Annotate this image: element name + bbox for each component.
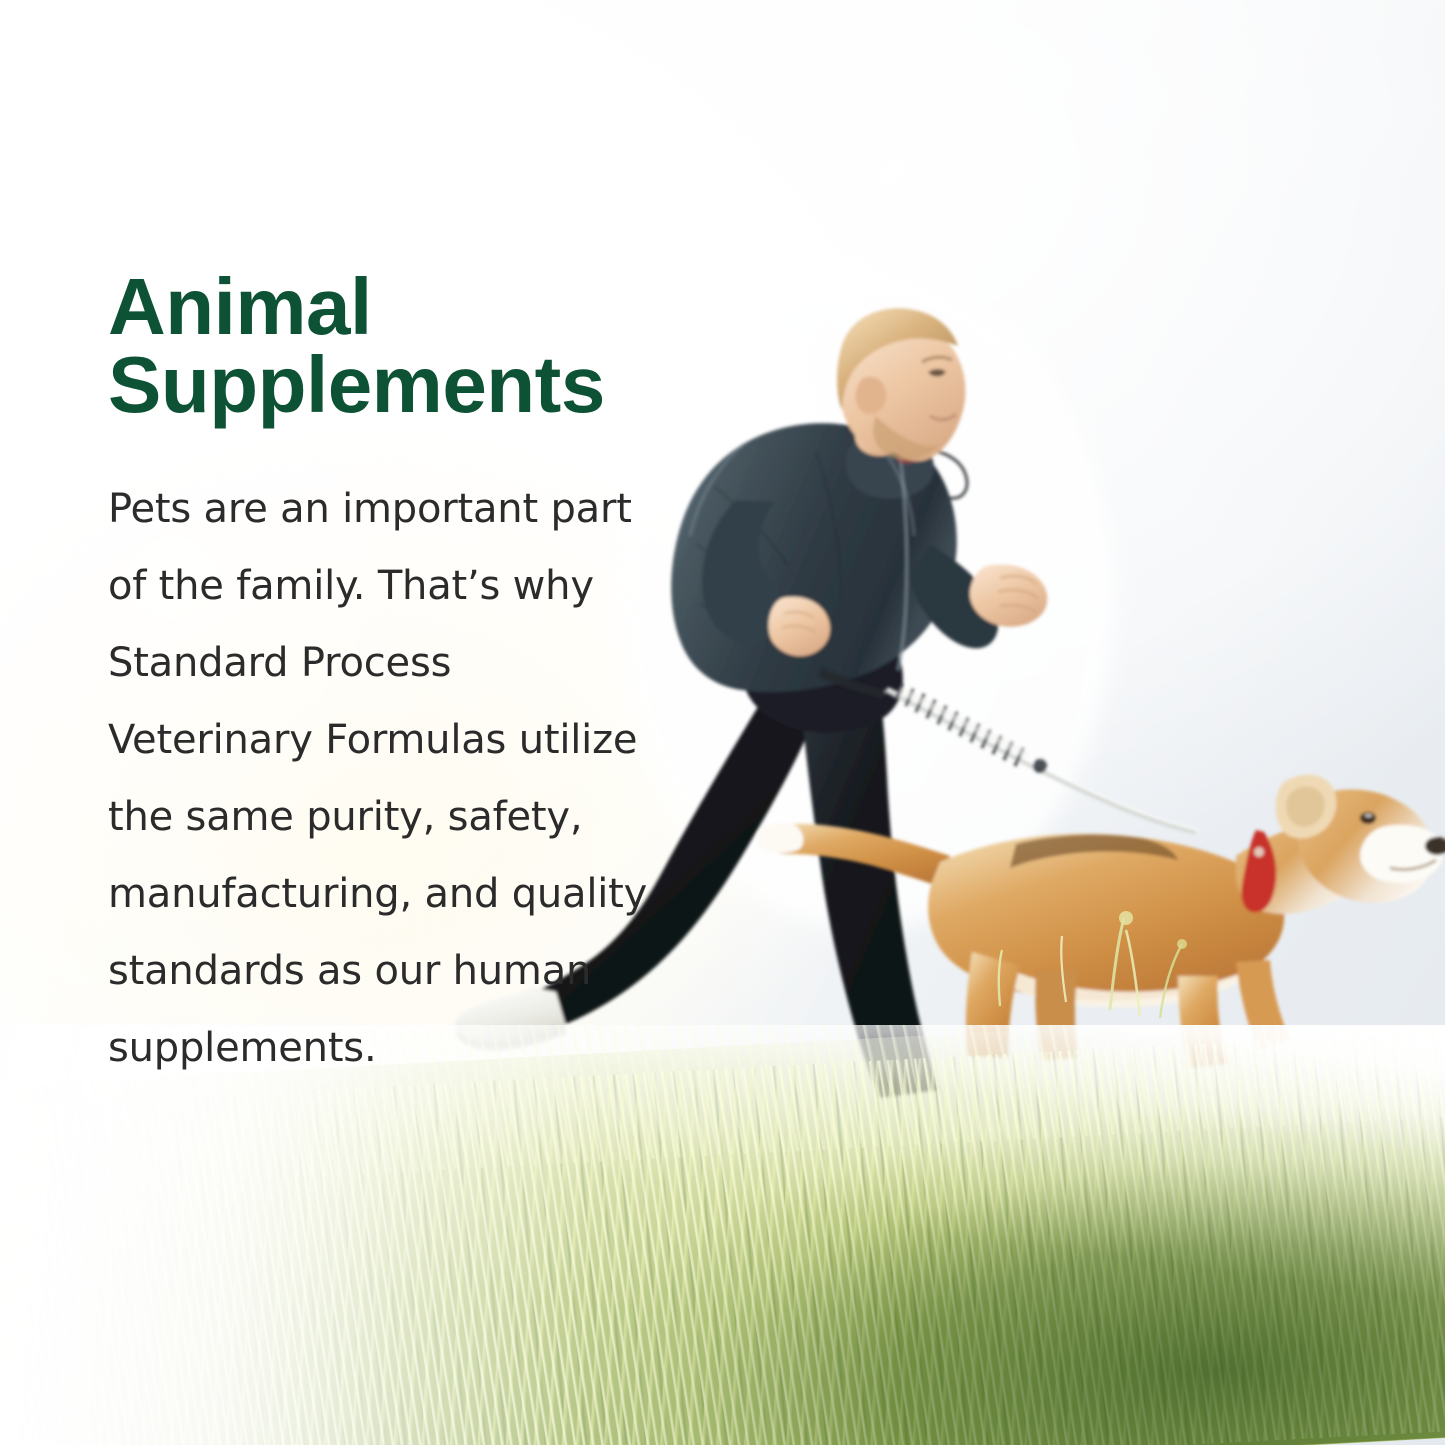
copy-block: Animal Supplements Pets are an important… xyxy=(108,268,668,1087)
hero-banner: Animal Supplements Pets are an important… xyxy=(0,0,1445,1445)
body-paragraph: Pets are an important part of the family… xyxy=(108,425,648,1087)
runner-ear xyxy=(856,377,887,414)
dog-collar-ring xyxy=(1254,847,1264,857)
page-title: Animal Supplements xyxy=(108,268,668,425)
grass-field xyxy=(0,1025,1445,1445)
grass-left-sunwash xyxy=(0,1025,580,1445)
dog-tail-white-tip xyxy=(757,823,804,853)
leash-clip xyxy=(1033,759,1047,773)
